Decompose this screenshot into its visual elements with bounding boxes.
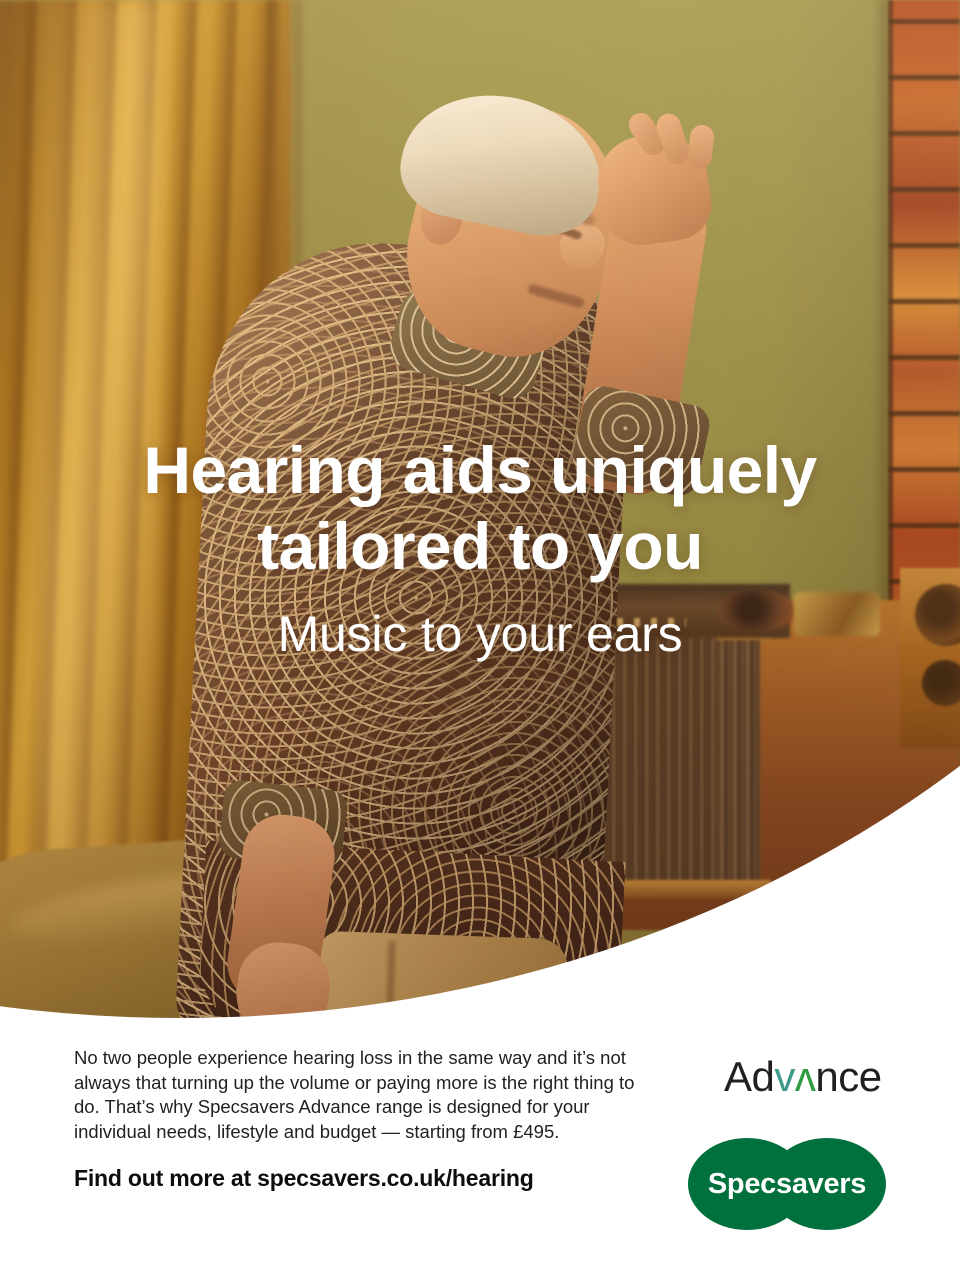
advance-logo-a: ʌ <box>795 1053 816 1100</box>
advance-logo-prefix: Ad <box>724 1053 774 1100</box>
advance-logo-suffix: nce <box>815 1053 881 1100</box>
trousers <box>311 931 569 1030</box>
advance-logo: Advʌnce <box>724 1054 882 1100</box>
specsavers-logo: Specsavers <box>688 1138 886 1230</box>
headline-line-2: tailored to you <box>257 509 703 583</box>
specsavers-wordmark: Specsavers <box>688 1138 886 1230</box>
finger <box>687 124 715 170</box>
body-copy: No two people experience hearing loss in… <box>74 1046 644 1144</box>
subheadline: Music to your ears <box>0 606 960 662</box>
headline: Hearing aids uniquely tailored to you <box>0 432 960 584</box>
cta-line[interactable]: Find out more at specsavers.co.uk/hearin… <box>74 1164 534 1192</box>
advert-page: Hearing aids uniquely tailored to you Mu… <box>0 0 960 1280</box>
headline-line-1: Hearing aids uniquely <box>143 433 816 507</box>
footer: No two people experience hearing loss in… <box>0 1030 960 1280</box>
speaker-tweeter <box>922 660 960 706</box>
headline-block: Hearing aids uniquely tailored to you Mu… <box>0 432 960 662</box>
advance-logo-v: v <box>774 1053 795 1100</box>
